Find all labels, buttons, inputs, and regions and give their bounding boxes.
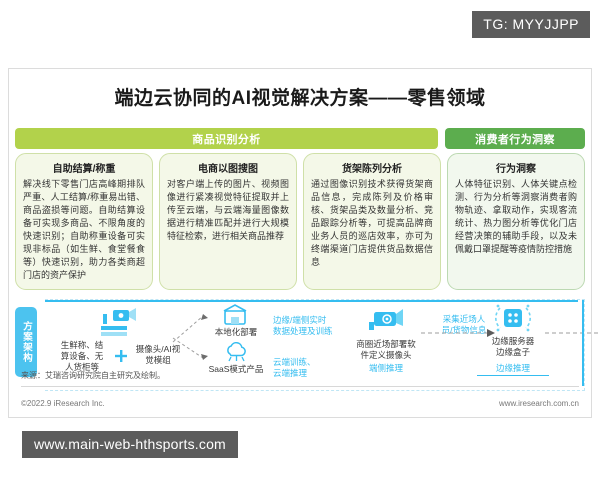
architecture-tab: 方案架构 bbox=[15, 307, 37, 377]
website-link[interactable]: www.iresearch.com.cn bbox=[499, 399, 579, 408]
cloud-icon bbox=[223, 342, 251, 364]
infographic-poster: 端边云协同的AI视觉解决方案——零售领域 商品识别分析 消费者行为洞察 自助结算… bbox=[8, 68, 592, 418]
card-title: 货架陈列分析 bbox=[311, 160, 433, 175]
card-shelf-analysis: 货架陈列分析 通过图像识别技术获得货架商品信息，完成陈列及价格审核、货架品类及数… bbox=[303, 153, 441, 290]
card-body: 通过图像识别技术获得货架商品信息，完成陈列及价格审核、货架品类及数量分析、竞品跟… bbox=[311, 178, 433, 269]
card-behavior-insight: 行为洞察 人体特征识别、人体关键点检测、行为分析等洞察消费者购物轨迹、拿取动作，… bbox=[447, 153, 585, 290]
footer-line: ©2022.9 iResearch Inc. www.iresearch.com… bbox=[21, 399, 579, 408]
node-edge-server: 边缘服务器 边缘盒子 bbox=[477, 336, 549, 357]
software-camera-icon bbox=[365, 306, 405, 336]
card-body: 对客户端上传的图片、视频图像进行紧凑视觉特征提取并上传至云端，与云端海量图像数据… bbox=[167, 178, 289, 243]
site-watermark: www.main-web-hthsports.com bbox=[22, 431, 238, 458]
arrow-to-saas-icon bbox=[171, 334, 211, 364]
bar-consumer-behavior: 消费者行为洞察 bbox=[445, 128, 585, 149]
card-title: 自助结算/称重 bbox=[23, 160, 145, 175]
node-local-deploy: 本地化部署 bbox=[201, 327, 271, 338]
edge-box-icon bbox=[491, 303, 535, 333]
annotation-cloud-training: 云端训练 bbox=[581, 358, 600, 370]
annotation-edge-realtime: 边缘/端侧实时 数据处理及训练 bbox=[273, 304, 357, 337]
card-list: 自助结算/称重 解决线下零售门店高峰期排队严重、人工结算/称重易出错、商品盗损等… bbox=[15, 153, 585, 290]
card-title: 电商以图搜图 bbox=[167, 160, 289, 175]
copyright-text: ©2022.9 iResearch Inc. bbox=[21, 399, 105, 408]
arrow-edge-to-cloud-icon bbox=[545, 328, 600, 338]
card-self-checkout: 自助结算/称重 解决线下零售门店高峰期排队严重、人工结算/称重易出错、商品盗损等… bbox=[15, 153, 153, 290]
category-bars: 商品识别分析 消费者行为洞察 bbox=[15, 128, 585, 149]
card-body: 人体特征识别、人体关键点检测、行为分析等洞察消费者购物轨迹、拿取动作，实现客流统… bbox=[455, 178, 577, 256]
node-store-camera: 商圈近场部署软 件定义摄像头 bbox=[345, 339, 427, 360]
card-body: 解决线下零售门店高峰期排队严重、人工结算/称重易出错、商品盗损等问题。自助结算设… bbox=[23, 178, 145, 282]
page-title: 端边云协同的AI视觉解决方案——零售领域 bbox=[9, 69, 591, 110]
camera-device-icon bbox=[93, 306, 139, 340]
card-title: 行为洞察 bbox=[455, 160, 577, 175]
node-cloud-service: 云服务 bbox=[581, 338, 600, 349]
plus-connector-icon bbox=[115, 350, 127, 362]
source-note: 来源：艾瑞咨询研究院自主研究及绘制。 bbox=[21, 370, 579, 387]
store-icon bbox=[221, 304, 249, 326]
node-device-label: 生鲜称、结 算设备、无 人货柜等 bbox=[51, 340, 113, 372]
card-image-search: 电商以图搜图 对客户端上传的图片、视频图像进行紧凑视觉特征提取并上传至云端，与云… bbox=[159, 153, 297, 290]
bar-product-recognition: 商品识别分析 bbox=[15, 128, 438, 149]
tg-badge: TG: MYYJJPP bbox=[472, 11, 590, 38]
